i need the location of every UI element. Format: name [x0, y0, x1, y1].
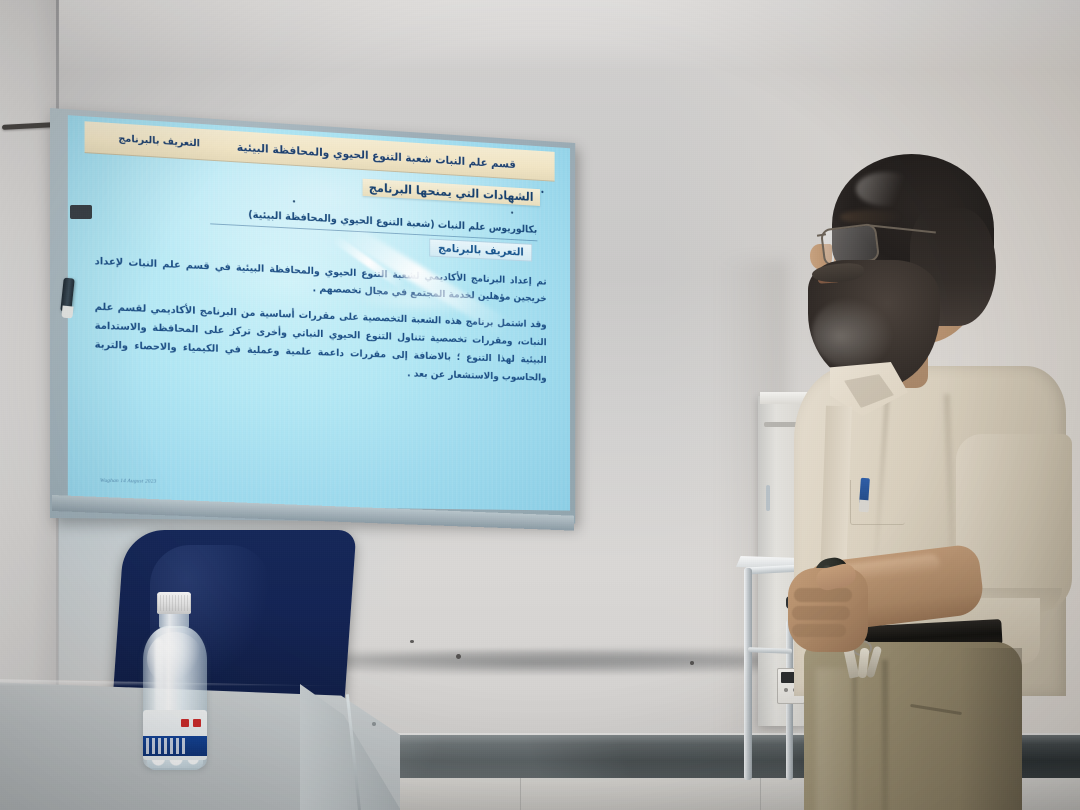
whiteboard-surface: التعريف بالبرنامج قسم علم النبات شعبة ال… [68, 115, 570, 510]
trouser-shadow [960, 648, 1022, 810]
floor-tile-seam [520, 778, 521, 810]
bullet-icon: • [293, 196, 296, 206]
projected-slide: التعريف بالبرنامج قسم علم النبات شعبة ال… [68, 115, 570, 510]
ceiling [0, 0, 1080, 70]
bottle-cap-ridges [157, 595, 191, 611]
label-red-block [181, 719, 189, 727]
whiteboard[interactable]: التعريف بالبرنامج قسم علم النبات شعبة ال… [50, 108, 575, 524]
slide-footer-credit: Wughan 14 August 2023 [100, 477, 156, 484]
marker-cap-icon [61, 305, 73, 318]
desk-screw [372, 722, 376, 726]
water-bottle[interactable] [139, 592, 211, 770]
slide-paragraph-2: وقد اشتمل برنامج هذه الشعبة التخصصية على… [95, 299, 547, 388]
bullet-icon: • [541, 188, 544, 197]
label-red-block [193, 719, 201, 727]
classroom-photo: التعريف بالبرنامج قسم علم النبات شعبة ال… [0, 0, 1080, 810]
presenter-beard-gray [812, 298, 892, 368]
presenter-brow-shadow [840, 210, 902, 224]
trouser-pleat [852, 664, 857, 810]
label-brand-text [146, 738, 186, 754]
finger [792, 624, 846, 637]
pen-clip [859, 500, 870, 513]
slide-side-label: التعريف بالبرنامج [91, 132, 200, 150]
bottle-neck [159, 612, 189, 628]
bullet-icon: • [511, 198, 514, 208]
bottle-label [143, 710, 207, 760]
whiteboard-clip [70, 205, 92, 219]
presenter-hair-gray [856, 172, 916, 206]
wall-mark [410, 640, 414, 643]
presenter [760, 148, 1080, 810]
wall-mark [456, 654, 461, 659]
slide-body-text: تم إعداد البرنامج الأكاديمي لشعبة التنوع… [95, 253, 547, 397]
trouser-highlight [816, 668, 866, 810]
finger [792, 606, 850, 620]
trolley-leg [744, 568, 752, 780]
bullet-icon: • [511, 208, 514, 218]
wall-mark [690, 661, 694, 665]
finger [794, 588, 852, 602]
